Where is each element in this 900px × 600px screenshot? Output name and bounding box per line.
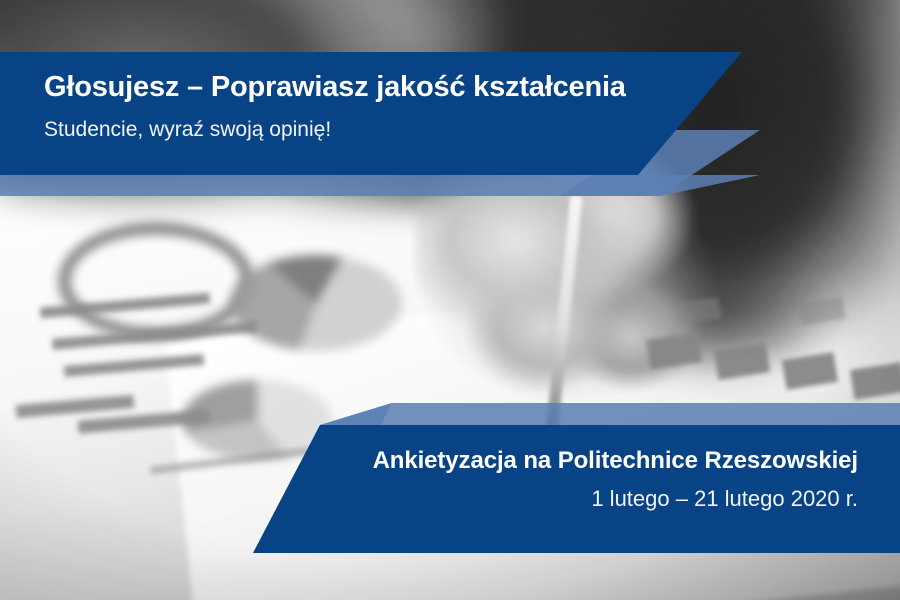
photo-pie-chart-filled [230,255,402,351]
subheadline: Studencie, wyraź swoją opinię! [44,117,644,142]
headline: Głosujesz – Poprawiasz jakość kształceni… [44,70,644,104]
bottom-banner-text: Ankietyzacja na Politechnice Rzeszowskie… [238,447,858,512]
top-banner-text: Głosujesz – Poprawiasz jakość kształceni… [44,70,644,142]
promotional-poster: Głosujesz – Poprawiasz jakość kształceni… [0,0,900,600]
photo-hand [415,150,775,450]
event-title: Ankietyzacja na Politechnice Rzeszowskie… [238,447,858,476]
photo-pie-chart-outline [58,222,254,340]
event-dates: 1 lutego – 21 lutego 2020 r. [238,486,858,512]
